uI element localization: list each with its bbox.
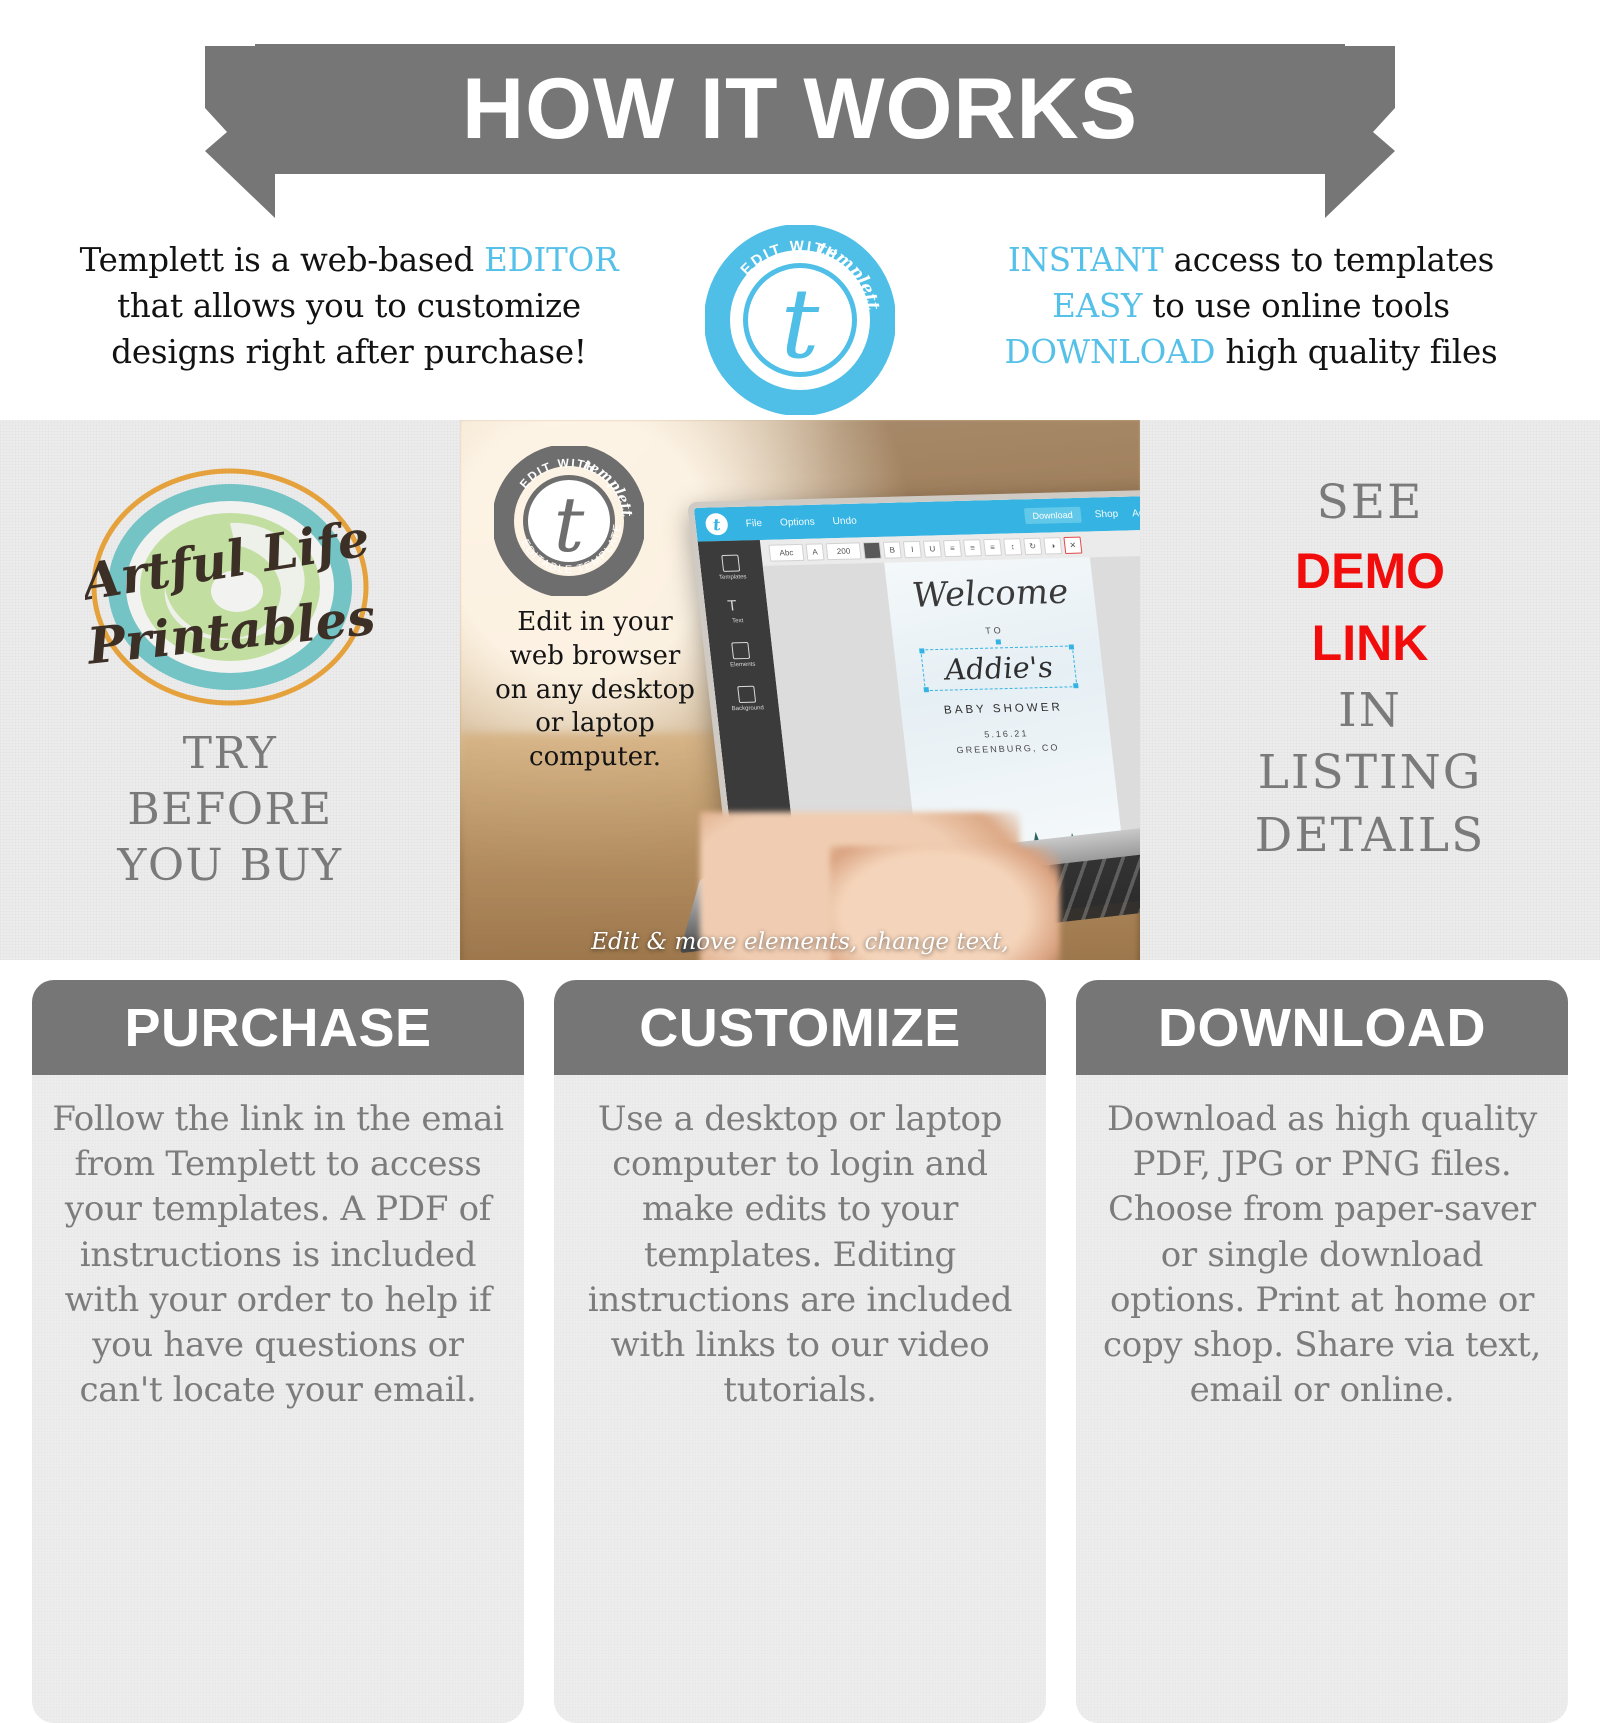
card-header-customize: CUSTOMIZE xyxy=(554,980,1046,1075)
intro-right-line3: DOWNLOAD high quality files xyxy=(936,329,1566,375)
step-card-customize: CUSTOMIZE Use a desktop or laptop comput… xyxy=(554,980,1046,1723)
intro-right-line2: EASY to use online tools xyxy=(936,283,1566,329)
menu-shop[interactable]: Shop xyxy=(1094,508,1119,520)
demo-line-see: SEE xyxy=(1317,472,1424,535)
intro-left-line1-highlight: EDITOR xyxy=(484,241,618,279)
artful-life-printables-logo: Artful Life Printables xyxy=(85,465,375,710)
template-name-selection[interactable]: Addie's xyxy=(921,645,1078,691)
text-color-swatch[interactable] xyxy=(863,541,882,558)
demo-link-column: SEE DEMO LINK IN LISTING DETAILS xyxy=(1140,420,1600,960)
template-event: BABY SHOWER xyxy=(943,702,1063,717)
menu-options[interactable]: Options xyxy=(779,516,815,528)
background-icon xyxy=(737,686,756,703)
template-date: 5.16.21 xyxy=(984,728,1029,739)
card-title-purchase: PURCHASE xyxy=(124,997,431,1059)
card-body-download: Download as high quality PDF, JPG or PNG… xyxy=(1076,1075,1568,1723)
elements-icon xyxy=(732,642,751,659)
demo-line-in: IN xyxy=(1338,680,1402,743)
card-header-purchase: PURCHASE xyxy=(32,980,524,1075)
step-card-download: DOWNLOAD Download as high quality PDF, J… xyxy=(1076,980,1568,1723)
text-icon: T xyxy=(727,598,746,615)
underline-icon[interactable]: U xyxy=(923,540,942,557)
intro-right-line3-rest: high quality files xyxy=(1215,333,1497,371)
steps-section: PURCHASE Follow the link in the emai fro… xyxy=(0,960,1600,1723)
sidebar-item-templates[interactable]: Templates xyxy=(717,554,747,581)
brand-column: Artful Life Printables TRY BEFORE YOU BU… xyxy=(0,420,460,960)
template-welcome: Welcome xyxy=(910,572,1070,616)
middle-band: Artful Life Printables TRY BEFORE YOU BU… xyxy=(0,420,1600,960)
templett-logo-icon: t xyxy=(704,513,729,535)
try-line2: BEFORE xyxy=(117,782,342,838)
intro-right-line2-rest: to use online tools xyxy=(1142,287,1450,325)
laptop-photo: t File Options Undo Download Shop Admin … xyxy=(460,420,1140,1000)
font-style-icon[interactable]: A xyxy=(805,543,824,560)
sidebar-label-background: Background xyxy=(731,705,764,712)
intro-left-line3: designs right after purchase! xyxy=(34,329,664,375)
opacity-icon[interactable]: ◑ xyxy=(1043,537,1062,554)
templates-icon xyxy=(722,555,741,572)
intro-right-line2-highlight: EASY xyxy=(1052,287,1142,325)
font-size-input[interactable]: 200 xyxy=(826,542,862,560)
card-title-customize: CUSTOMIZE xyxy=(639,997,961,1059)
page-title: HOW IT WORKS xyxy=(462,66,1138,152)
demo-line-link: LINK xyxy=(1312,607,1429,680)
menu-file[interactable]: File xyxy=(745,518,762,529)
sidebar-item-text[interactable]: T Text xyxy=(727,598,747,624)
photo-bottom-caption-line1: Edit & move elements, change text, xyxy=(460,927,1140,958)
menu-undo[interactable]: Undo xyxy=(832,515,857,527)
intro-right-line1: INSTANT access to templates xyxy=(936,237,1566,283)
banner-section: HOW IT WORKS xyxy=(0,0,1600,225)
try-before-you-buy: TRY BEFORE YOU BUY xyxy=(117,726,342,894)
demo-line-demo: DEMO xyxy=(1295,535,1445,608)
intro-right-text: INSTANT access to templates EASY to use … xyxy=(936,215,1566,375)
intro-section: Templett is a web-based EDITOR that allo… xyxy=(0,215,1600,420)
card-body-customize: Use a desktop or laptop computer to logi… xyxy=(554,1075,1046,1723)
svg-text:t: t xyxy=(781,268,820,380)
intro-right-line1-highlight: INSTANT xyxy=(1008,241,1164,279)
templett-badge-blue: EDIT WITH templett EDITABLE TEMPLATE t xyxy=(705,225,895,415)
italic-icon[interactable]: I xyxy=(903,540,922,557)
banner-body: HOW IT WORKS xyxy=(255,44,1345,174)
intro-left-line1: Templett is a web-based EDITOR xyxy=(34,237,664,283)
align-right-icon[interactable]: ≡ xyxy=(983,538,1002,555)
rotate-icon[interactable]: ↻ xyxy=(1023,537,1042,554)
intro-left-text: Templett is a web-based EDITOR that allo… xyxy=(34,215,664,375)
intro-right-line1-rest: access to templates xyxy=(1163,241,1494,279)
sidebar-item-background[interactable]: Background xyxy=(729,685,764,712)
step-card-purchase: PURCHASE Follow the link in the emai fro… xyxy=(32,980,524,1723)
demo-line-details: DETAILS xyxy=(1255,805,1486,868)
laptop-illustration: t File Options Undo Download Shop Admin … xyxy=(710,494,1140,964)
svg-text:t: t xyxy=(554,480,585,569)
sidebar-label-elements: Elements xyxy=(730,662,756,669)
align-center-icon[interactable]: ≡ xyxy=(963,539,982,556)
bold-icon[interactable]: B xyxy=(883,541,902,558)
card-body-purchase: Follow the link in the emai from Templet… xyxy=(32,1075,524,1723)
intro-left-line2: that allows you to customize xyxy=(34,283,664,329)
sidebar-label-templates: Templates xyxy=(719,574,747,581)
template-location: GREENBURG, CO xyxy=(956,742,1060,755)
intro-left-line1-prefix: Templett is a web-based xyxy=(80,241,484,279)
align-left-icon[interactable]: ≡ xyxy=(943,539,962,556)
font-family-select[interactable]: Abc xyxy=(768,543,804,561)
card-title-download: DOWNLOAD xyxy=(1158,997,1486,1059)
download-button[interactable]: Download xyxy=(1024,507,1082,524)
demo-line-listing: LISTING xyxy=(1258,742,1483,805)
try-line1: TRY xyxy=(117,726,342,782)
menu-admin[interactable]: Admin xyxy=(1132,507,1140,519)
templett-badge-grey: EDIT WITH templett EDITABLE TEMPLATE t xyxy=(494,446,644,596)
try-line3: YOU BUY xyxy=(117,838,342,894)
template-to: TO xyxy=(985,625,1005,635)
line-spacing-icon[interactable]: ↕ xyxy=(1003,538,1022,555)
intro-right-line3-highlight: DOWNLOAD xyxy=(1004,333,1215,371)
card-header-download: DOWNLOAD xyxy=(1076,980,1568,1075)
photo-caption: Edit in your web browser on any desktop … xyxy=(492,606,698,775)
sidebar-label-text: Text xyxy=(732,618,744,624)
sidebar-item-elements[interactable]: Elements xyxy=(728,642,756,668)
delete-icon[interactable]: ✕ xyxy=(1063,536,1082,553)
selection-box xyxy=(921,645,1078,691)
